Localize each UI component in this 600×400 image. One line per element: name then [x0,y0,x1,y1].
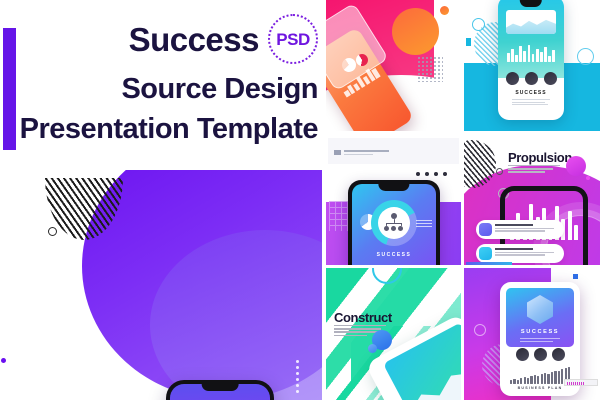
ring-decor-medium [577,48,594,65]
ring-decor [48,227,57,236]
phone-screen-gradient: SUCCESS [506,288,574,347]
feature-card-1-text [495,224,559,233]
ring-decor-small [472,18,485,31]
construct-title: Construct [334,310,392,325]
panel-construct: Construct [326,268,461,400]
chip-icon [334,150,341,155]
circle-icon-1 [506,72,519,85]
success-label: SUCCESS [352,252,436,258]
feature-card-1[interactable] [476,220,564,239]
mountain-graphic [400,355,461,400]
feature-card-2-text [495,248,559,257]
text-line-2 [344,154,373,155]
text-line-1 [344,150,389,152]
orange-circle-small-decor [440,6,449,15]
speed-lines-decor [416,220,432,229]
process-phone-mockup: SUCCESS [348,180,440,265]
cube-icon [527,295,553,324]
area-chart [506,17,556,34]
area-chart-card [506,10,556,34]
ring-decor [474,324,486,336]
panel-bottom-right: SUCCESS BUSINESS PLAN [464,268,600,400]
text-placeholder [520,338,560,343]
headline-zone: Success PSD Source Design Presentation T… [0,0,330,170]
poster-canvas: Success PSD Source Design Presentation T… [0,0,600,400]
headline-line-1-row: Success PSD [8,14,318,64]
headline-line-2: Source Design [8,75,318,104]
feature-icon-row [498,72,564,85]
phone-screen: SUCCESS [352,184,436,265]
document-icon [479,223,492,236]
propulsion-subtext [508,165,560,175]
business-plan-bar-chart [510,366,570,384]
phone-notch [378,184,409,191]
purple-dot-decor [1,358,6,363]
panel-middle-left: SUCCESS [326,134,461,265]
psd-badge: PSD [268,14,318,64]
text-placeholder [512,99,550,107]
cyan-phone-mockup: SUCCESS [498,0,564,120]
circle-icon-2 [534,348,547,361]
hero-phone-mockup: BUSINESS REPORT SUCCESS [166,380,274,400]
pink-dot-decor [586,176,590,180]
top-info-card [328,138,459,164]
blue-square-decor [573,274,578,279]
success-label: SUCCESS [498,90,564,96]
circle-icon-3 [544,72,557,85]
ring-decor-small [496,168,503,175]
side-dots-decor [296,360,300,393]
square-decor [466,38,471,46]
blue-sphere-small-decor [368,344,377,353]
phone-notch [202,384,239,391]
business-plan-label: BUSINESS PLAN [500,386,580,390]
bar-chart [507,44,555,62]
panel-propulsion: Propulsion [464,134,600,265]
chat-icon [479,247,492,260]
headline-block: Success PSD Source Design Presentation T… [8,14,318,144]
panel-top-right: SUCCESS [464,0,600,131]
success-label: SUCCESS [506,329,574,335]
watermark-tag [564,379,598,386]
orange-circle-decor [392,8,439,55]
headline-line-3: Presentation Template [8,115,318,144]
hero-panel: Think&Do It BUSINESS REPORT SUCCESS [0,170,322,400]
propulsion-title: Propulsion [508,150,572,165]
underline-accent [466,262,512,265]
feature-icon-row [500,348,580,361]
pink-circle-decor [566,156,586,176]
org-chart-icon [384,213,404,233]
panel-top-left [326,0,461,131]
feature-card-2[interactable] [476,244,564,263]
dot-row-decor [416,172,447,176]
circle-icon-2 [525,72,538,85]
dot-grid-decor [417,56,443,82]
circle-icon-3 [552,348,565,361]
headline-line-1: Success [129,23,259,56]
circle-icon-1 [516,348,529,361]
